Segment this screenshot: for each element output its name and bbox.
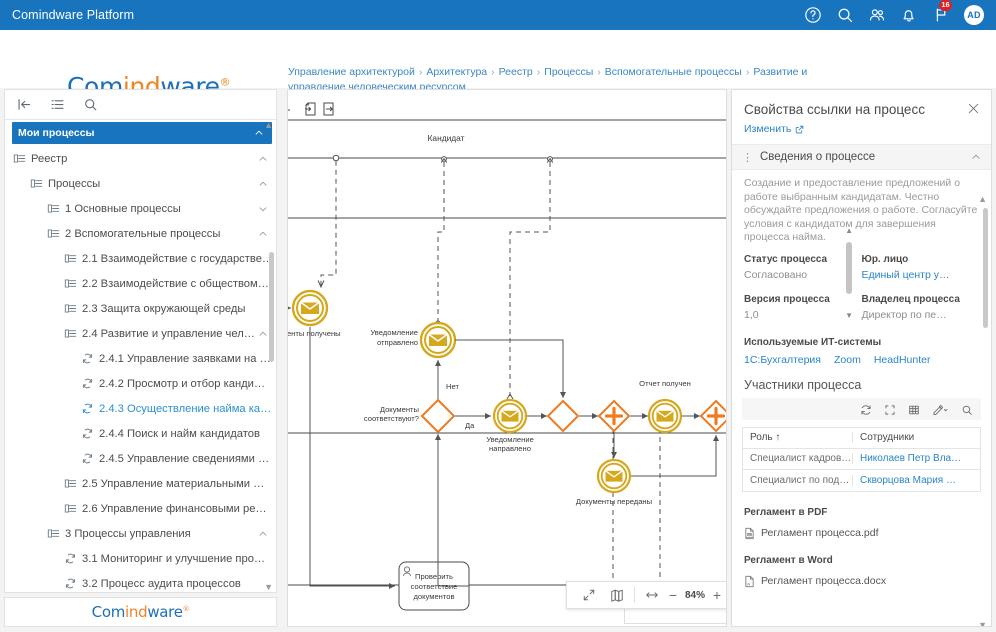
folder-tree-icon (47, 227, 60, 240)
sidebar-item-label: 2.4.5 Управление сведениями … (99, 453, 269, 465)
chevron-up-icon[interactable] (258, 179, 268, 189)
sidebar-toolbar (5, 90, 276, 120)
breadcrumb-separator: › (746, 66, 750, 78)
field-label: Версия процесса (744, 294, 862, 305)
chevron-up-icon[interactable] (254, 128, 264, 138)
scroll-up-arrow[interactable]: ▲ (978, 194, 987, 204)
footer-logo-part-1: Com (92, 603, 125, 621)
minimap-icon[interactable] (610, 588, 624, 602)
drag-handle-icon[interactable]: ⋮ (742, 151, 753, 164)
field-owner: Владелец процесса Директор по пе… (862, 294, 980, 321)
folder-tree-icon (64, 327, 77, 340)
sidebar-item-12[interactable]: 2.4.5 Управление сведениями … (5, 446, 276, 471)
breadcrumb-item-2[interactable]: Реестр (499, 66, 533, 78)
chevron-up-icon[interactable] (258, 229, 268, 239)
field-value: 1,0 (744, 309, 862, 321)
sidebar-item-label: 2.5 Управление материальными … (82, 478, 264, 490)
sidebar-item-label: 2.4.4 Поиск и найм кандидатов (99, 428, 260, 440)
sidebar-scrollbar[interactable]: ▲ ▼ (269, 122, 274, 590)
participants-label: Участники процесса (732, 366, 991, 392)
sidebar-scroll-thumb[interactable] (269, 252, 274, 362)
svg-text:направлено: направлено (489, 444, 531, 453)
sidebar-item-6[interactable]: 2.3 Защита окружающей среды (5, 296, 276, 321)
bell-icon[interactable] (900, 6, 918, 24)
chevron-up-icon[interactable] (258, 529, 268, 539)
sidebar-item-14[interactable]: 2.6 Управление финансовыми ре… (5, 496, 276, 521)
left-sidebar: Мои процессыРеестрПроцессы1 Основные про… (4, 89, 277, 593)
pdf-label: Регламент в PDF (732, 492, 991, 518)
process-description: Создание и предоставление предложений о … (732, 170, 991, 245)
chevron-down-icon[interactable] (258, 204, 268, 214)
footer-logo-part-3: ware (147, 603, 182, 621)
process-icon (81, 352, 94, 365)
breadcrumb-item-4[interactable]: Вспомогательные процессы (605, 66, 742, 78)
participants-table: Роль ↑ Сотрудники Специалист кадров… Ник… (742, 427, 981, 492)
it-system-link[interactable]: 1С:Бухгалтерия (744, 354, 821, 366)
sidebar-item-16[interactable]: 3.1 Мониторинг и улучшение про… (5, 546, 276, 571)
it-systems-label: Используемые ИТ-системы (732, 337, 991, 348)
sidebar-item-1[interactable]: Процессы (5, 171, 276, 196)
svg-text:Отчет получен: Отчет получен (639, 379, 691, 388)
diagram-message-icons (305, 103, 333, 115)
sidebar-item-0[interactable]: Реестр (5, 146, 276, 171)
search-icon[interactable] (961, 403, 973, 415)
svg-text:Проверить: Проверить (415, 572, 453, 581)
app-title: Comindware Platform (0, 8, 134, 22)
description-scroll-thumb[interactable] (846, 242, 852, 294)
event-documents-transferred (598, 460, 630, 492)
inner-scroll-down-arrow[interactable]: ▼ (845, 311, 853, 320)
breadcrumb-separator: › (491, 66, 495, 78)
sidebar-item-10[interactable]: 2.4.3 Осуществление найма ка… (5, 396, 276, 421)
people-icon[interactable] (868, 6, 886, 24)
pdf-file-name: Регламент процесса.pdf (761, 527, 878, 539)
sidebar-item-11[interactable]: 2.4.4 Поиск и найм кандидатов (5, 421, 276, 446)
process-icon (64, 577, 77, 590)
scroll-up-arrow[interactable]: ▲ (264, 120, 273, 130)
table-icon[interactable] (908, 403, 920, 415)
svg-text:…енты получены: …енты получены (288, 329, 341, 338)
word-label: Регламент в Word (732, 540, 991, 566)
fullscreen-icon[interactable] (884, 403, 896, 415)
field-label: Юр. лицо (862, 254, 980, 265)
folder-tree-icon (64, 477, 77, 490)
zoom-level: 84% (685, 590, 705, 601)
top-bar-actions: 16 AD (804, 5, 996, 25)
cell-employee[interactable]: Скворцова Мария … (853, 475, 980, 486)
folder-tree-icon (64, 252, 77, 265)
zoom-out-button[interactable]: − (666, 587, 680, 603)
sidebar-item-label: 2.3 Защита окружающей среды (82, 303, 245, 315)
svg-text:документов: документов (413, 592, 454, 601)
expand-icon[interactable] (582, 588, 596, 602)
svg-text:Документы: Документы (380, 405, 419, 414)
process-icon (81, 427, 94, 440)
event-notification-directed (494, 400, 526, 432)
list-icon[interactable] (50, 97, 65, 112)
participants-table-toolbar (742, 398, 981, 420)
field-status: Статус процесса Согласовано (744, 254, 862, 281)
gateway-parallel-2 (701, 401, 727, 431)
collapse-panel-icon[interactable] (17, 97, 32, 112)
gateway-documents-match (422, 400, 454, 432)
sidebar-item-label: 2.4.2 Просмотр и отбор канди… (99, 378, 265, 390)
breadcrumb-item-3[interactable]: Процессы (544, 66, 593, 78)
word-file-icon: W (744, 575, 755, 588)
sidebar-item-label: Процессы (48, 178, 100, 190)
folder-tree-icon (13, 152, 26, 165)
toolbar-divider (634, 587, 635, 603)
sidebar-item-5[interactable]: 2.2 Взаимодействие с обществом… (5, 271, 276, 296)
sidebar-item-label: 3 Процессы управления (65, 528, 191, 540)
process-icon (81, 377, 94, 390)
scroll-down-arrow[interactable]: ▼ (264, 582, 273, 592)
word-file-name: Регламент процесса.docx (761, 575, 886, 587)
sidebar-item-label: 2.1 Взаимодействие с государстве… (82, 253, 273, 265)
diagram-bottom-notch (624, 609, 727, 624)
sidebar-item-label: 3.2 Процесс аудита процессов (82, 578, 241, 590)
folder-tree-icon (64, 277, 77, 290)
field-version: Версия процесса 1,0 (744, 294, 862, 321)
table-row[interactable]: Специалист по под… Скворцова Мария … (743, 470, 980, 491)
process-fields-row-1: Статус процесса Согласовано Юр. лицо Еди… (732, 245, 991, 281)
chevron-up-icon[interactable] (971, 152, 981, 162)
properties-title: Свойства ссылки на процесс (732, 90, 991, 117)
edit-link-label: Изменить (744, 123, 791, 135)
sidebar-item-2[interactable]: 1 Основные процессы (5, 196, 276, 221)
sidebar-item-9[interactable]: 2.4.2 Просмотр и отбор канди… (5, 371, 276, 396)
event-report-received (649, 400, 681, 432)
sidebar-item-3[interactable]: 2 Вспомогательные процессы (5, 221, 276, 246)
sidebar-item-15[interactable]: 3 Процессы управления (5, 521, 276, 546)
process-icon (64, 552, 77, 565)
cell-employee[interactable]: Николаев Петр Вла… (853, 453, 980, 464)
sidebar-item-7[interactable]: 2.4 Развитие и управление чел… (5, 321, 276, 346)
process-icon (81, 452, 94, 465)
svg-text:Уведомление: Уведомление (370, 328, 418, 337)
svg-text:соответствуют?: соответствуют? (364, 414, 419, 423)
process-tree: Мои процессыРеестрПроцессы1 Основные про… (5, 122, 276, 592)
field-legal-entity: Юр. лицо Единый центр у… (862, 254, 980, 281)
inner-scroll-up-arrow[interactable]: ▲ (845, 226, 853, 235)
field-label: Владелец процесса (862, 294, 980, 305)
it-system-link[interactable]: HeadHunter (874, 354, 931, 366)
footer-logo-part-2: ind (125, 603, 147, 621)
process-info-section-header[interactable]: ⋮ Сведения о процессе (732, 144, 991, 170)
folder-tree-icon (64, 502, 77, 515)
svg-text:Документы переданы: Документы переданы (576, 497, 652, 506)
description-inner-scrollbar[interactable]: ▲ ▼ (846, 232, 852, 314)
field-value[interactable]: Единый центр у… (862, 269, 980, 281)
pdf-file-row[interactable]: Регламент процесса.pdf (732, 518, 991, 540)
field-value: Согласовано (744, 269, 862, 281)
comindware-logo-small: Comindware® (92, 603, 190, 621)
bpmn-diagram: Кандидат (288, 90, 727, 627)
sidebar-item-label: 2 Вспомогательные процессы (65, 228, 220, 240)
sidebar-scroll-area[interactable]: Мои процессыРеестрПроцессы1 Основные про… (5, 120, 276, 592)
fit-width-icon[interactable] (645, 588, 659, 602)
column-header-employees[interactable]: Сотрудники (853, 432, 980, 443)
chevron-up-icon[interactable] (258, 329, 268, 339)
field-label: Статус процесса (744, 254, 862, 265)
footer-logo-trademark: ® (183, 605, 190, 613)
sidebar-selected-header-label: Мои процессы (18, 127, 95, 139)
section-title: Сведения о процессе (760, 151, 875, 163)
folder-tree-icon (47, 527, 60, 540)
sidebar-item-label: 2.4 Развитие и управление чел… (82, 328, 255, 340)
field-value: Директор по пе… (862, 309, 980, 321)
process-icon (81, 402, 94, 415)
event-documents-received (288, 291, 327, 325)
sidebar-item-label: 2.2 Взаимодействие с обществом… (82, 278, 269, 290)
cell-role: Специалист по под… (743, 475, 853, 486)
sidebar-footer: Comindware® (4, 597, 277, 627)
column-header-role[interactable]: Роль ↑ (743, 432, 853, 443)
sidebar-item-4[interactable]: 2.1 Взаимодействие с государстве… (5, 246, 276, 271)
sidebar-item-label: 1 Основные процессы (65, 203, 181, 215)
breadcrumb-item-1[interactable]: Архитектура (426, 66, 487, 78)
sidebar-item-label: Реестр (31, 153, 67, 165)
bpmn-diagram-canvas[interactable]: Кандидат (287, 89, 727, 627)
breadcrumb-separator: › (597, 66, 601, 78)
folder-tree-icon (47, 202, 60, 215)
close-icon[interactable] (967, 102, 980, 115)
gateway-exclusive-2 (548, 401, 578, 431)
properties-panel: Свойства ссылки на процесс Изменить ⋮ Св… (731, 89, 992, 627)
gateway-parallel-1 (599, 401, 629, 431)
chevron-up-icon[interactable] (258, 154, 268, 164)
diagram-zoom-toolbar: − 84% + (566, 581, 727, 609)
svg-text:Уведомление: Уведомление (486, 435, 534, 444)
edit-link[interactable]: Изменить (732, 117, 991, 135)
refresh-icon[interactable] (860, 403, 872, 415)
external-link-icon (795, 125, 804, 134)
sidebar-item-17[interactable]: 3.2 Процесс аудита процессов (5, 571, 276, 592)
sidebar-item-label: 3.1 Мониторинг и улучшение про… (82, 553, 265, 565)
svg-text:Нет: Нет (446, 382, 459, 391)
help-icon[interactable] (804, 6, 822, 24)
svg-text:отправлено: отправлено (377, 338, 418, 347)
table-header-row: Роль ↑ Сотрудники (743, 428, 980, 449)
breadcrumb-separator: › (419, 66, 423, 78)
top-bar: Comindware Platform (0, 0, 996, 30)
avatar[interactable]: AD (964, 5, 984, 25)
flag-badge: 16 (939, 0, 952, 11)
sidebar-item-label: 2.4.1 Управление заявками на … (99, 353, 271, 365)
sidebar-selected-header[interactable]: Мои процессы (12, 122, 272, 144)
sidebar-item-label: 2.4.3 Осуществление найма ка… (99, 403, 271, 415)
properties-scrollbar[interactable]: ▲ ▼ (983, 208, 988, 618)
sidebar-item-13[interactable]: 2.5 Управление материальными … (5, 471, 276, 496)
cell-role: Специалист кадров… (743, 453, 853, 464)
breadcrumb-item-0[interactable]: Управление архитектурой (288, 66, 415, 78)
search-icon[interactable] (836, 6, 854, 24)
it-system-link[interactable]: Zoom (834, 354, 861, 366)
edit-icon[interactable] (932, 403, 949, 415)
pdf-file-icon (744, 527, 755, 540)
folder-tree-icon (30, 177, 43, 190)
folder-tree-icon (64, 302, 77, 315)
sidebar-item-label: 2.6 Управление финансовыми ре… (82, 503, 267, 515)
word-file-row[interactable]: W Регламент процесса.docx (732, 566, 991, 588)
zoom-in-button[interactable]: + (710, 587, 724, 603)
properties-scroll-thumb[interactable] (983, 208, 988, 328)
breadcrumb-separator: › (537, 66, 541, 78)
search-icon[interactable] (83, 97, 98, 112)
sidebar-item-8[interactable]: 2.4.1 Управление заявками на … (5, 346, 276, 371)
event-notification-sent (421, 323, 455, 357)
scroll-down-arrow[interactable]: ▼ (978, 620, 987, 627)
it-systems-list: 1С:Бухгалтерия Zoom HeadHunter (732, 348, 991, 366)
svg-text:W: W (747, 582, 751, 586)
logo-trademark: ® (220, 76, 231, 89)
svg-text:Да: Да (465, 421, 475, 430)
process-fields-row-2: Версия процесса 1,0 Владелец процесса Ди… (732, 281, 991, 321)
table-row[interactable]: Специалист кадров… Николаев Петр Вла… (743, 449, 980, 470)
page-header: Comindware® Управление архитектурой›Архи… (0, 30, 996, 88)
flag-icon[interactable]: 16 (932, 6, 950, 24)
lane-label: Кандидат (428, 133, 465, 143)
